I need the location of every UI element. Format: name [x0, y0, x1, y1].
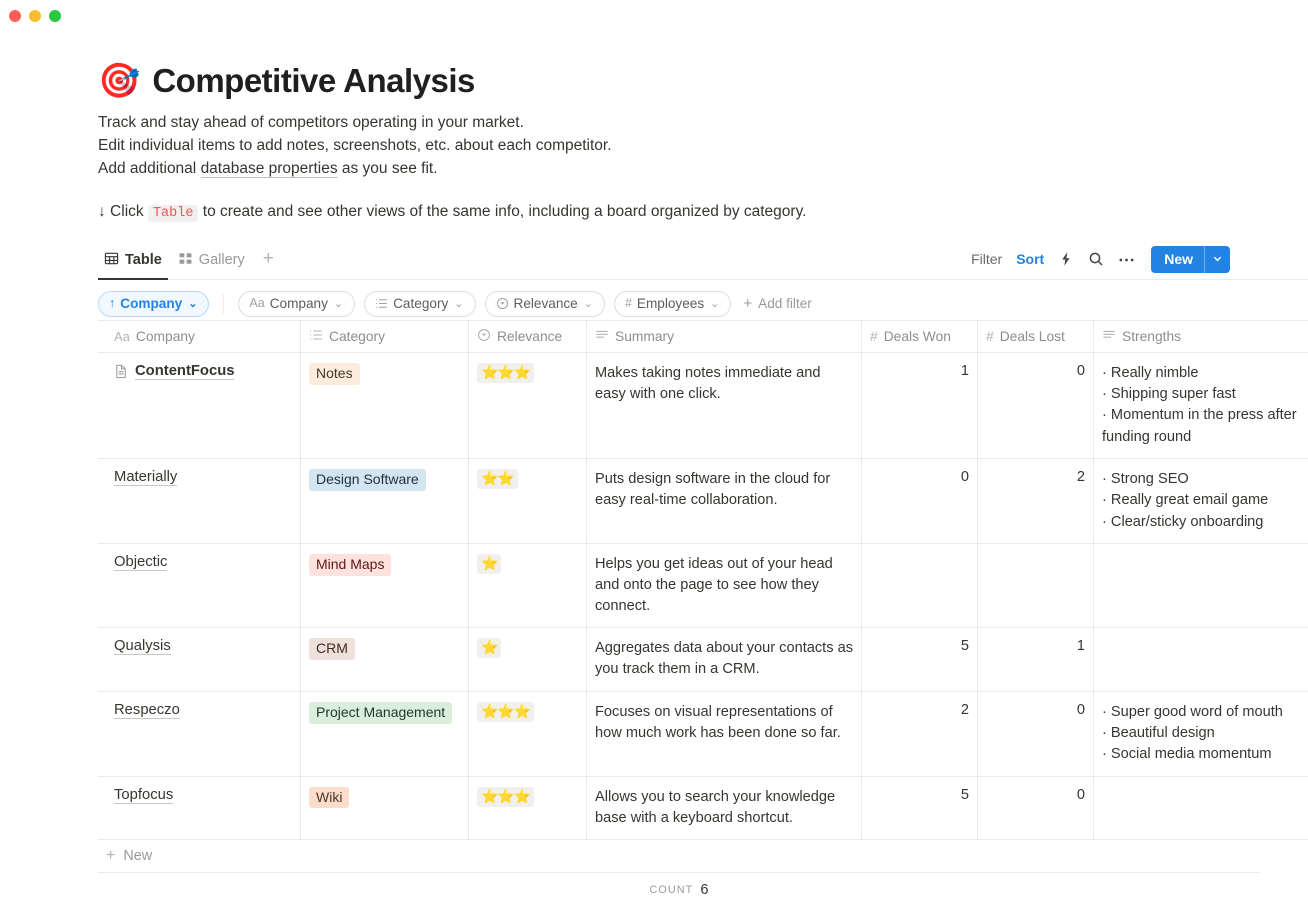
company-name[interactable]: Objectic: [114, 554, 167, 571]
property-pill-category-label: Category: [393, 296, 448, 311]
description-suffix: as you see fit.: [338, 160, 438, 177]
company-link-wrapper: Topfocus: [106, 787, 292, 804]
cell-summary[interactable]: Allows you to search your knowledge base…: [587, 777, 862, 840]
cell-strengths[interactable]: · Really nimble· Shipping super fast· Mo…: [1094, 353, 1308, 459]
gallery-icon: [178, 251, 193, 270]
sort-button[interactable]: Sort: [1016, 251, 1044, 267]
view-toolbar: Filter Sort New: [971, 246, 1230, 273]
cell-company[interactable]: Topfocus: [98, 777, 301, 840]
company-link-wrapper: Respeczo: [106, 702, 292, 719]
chevron-down-icon: ⌄: [710, 297, 719, 310]
cell-company[interactable]: Qualysis: [98, 628, 301, 691]
page-title[interactable]: Competitive Analysis: [152, 62, 475, 100]
strengths-list: · Really nimble· Shipping super fast· Mo…: [1102, 363, 1300, 448]
deals-lost-value: 0: [986, 787, 1085, 803]
column-header-deals-won[interactable]: # Deals Won: [862, 320, 978, 353]
table-row[interactable]: ObjecticMind Maps⭐Helps you get ideas ou…: [98, 544, 1308, 628]
summary-text: Allows you to search your knowledge base…: [595, 787, 853, 829]
table-row[interactable]: MateriallyDesign Software⭐⭐Puts design s…: [98, 459, 1308, 544]
cell-summary[interactable]: Makes taking notes immediate and easy wi…: [587, 353, 862, 459]
cell-summary[interactable]: Helps you get ideas out of your head and…: [587, 544, 862, 628]
company-name[interactable]: Qualysis: [114, 638, 171, 655]
number-icon: #: [870, 329, 878, 344]
filter-button[interactable]: Filter: [971, 251, 1002, 267]
pill-divider: [223, 294, 224, 314]
company-name[interactable]: Topfocus: [114, 787, 173, 804]
search-icon[interactable]: [1088, 251, 1104, 267]
deals-lost-value: 2: [986, 469, 1085, 485]
cell-deals-lost[interactable]: [978, 544, 1094, 628]
add-view-button[interactable]: +: [255, 249, 282, 276]
description-line-3: Add additional database properties as yo…: [98, 158, 1308, 181]
strength-item: · Social media momentum: [1102, 744, 1300, 765]
deals-lost-value: 0: [986, 363, 1085, 379]
count-value: 6: [700, 882, 708, 898]
minimize-button[interactable]: [29, 10, 41, 22]
chevron-down-icon: ⌄: [334, 297, 343, 310]
star-rating: ⭐: [477, 638, 501, 658]
number-icon: #: [625, 296, 632, 310]
database-table: Aa Company Category Relevance: [98, 320, 1308, 840]
column-header-summary[interactable]: Summary: [587, 320, 862, 353]
property-pill-company[interactable]: Aa Company ⌄: [238, 291, 355, 317]
select-icon: [309, 328, 323, 345]
strength-item: · Momentum in the press after funding ro…: [1102, 405, 1300, 448]
company-name[interactable]: Materially: [114, 469, 177, 486]
hint-prefix: ↓ Click: [98, 203, 148, 220]
strength-item: · Really great email game: [1102, 490, 1300, 511]
column-header-company[interactable]: Aa Company: [98, 320, 301, 353]
table-footer-count[interactable]: Count 6: [98, 873, 1260, 907]
cell-company[interactable]: Materially: [98, 459, 301, 544]
cell-strengths[interactable]: [1094, 628, 1308, 691]
new-button[interactable]: New: [1151, 246, 1230, 273]
cell-summary[interactable]: Puts design software in the cloud for ea…: [587, 459, 862, 544]
chevron-down-icon: ⌄: [454, 297, 463, 310]
tab-gallery-label: Gallery: [199, 252, 245, 268]
column-header-deals-lost[interactable]: # Deals Lost: [978, 320, 1094, 353]
property-pill-relevance[interactable]: Relevance ⌄: [485, 291, 605, 317]
new-row-button[interactable]: + New: [98, 840, 1260, 873]
category-tag: CRM: [309, 638, 355, 660]
cell-relevance[interactable]: ⭐⭐⭐: [469, 777, 587, 840]
cell-category[interactable]: Project Management: [301, 692, 469, 777]
cell-category[interactable]: Wiki: [301, 777, 469, 840]
column-header-strengths[interactable]: Strengths: [1094, 320, 1308, 353]
company-link-wrapper: Objectic: [106, 554, 292, 571]
cell-deals-lost[interactable]: 0: [978, 777, 1094, 840]
status-icon: [496, 297, 509, 310]
window-titlebar: [0, 0, 1308, 30]
cell-category[interactable]: Mind Maps: [301, 544, 469, 628]
new-row-label: New: [123, 848, 152, 864]
description-line-1: Track and stay ahead of competitors oper…: [98, 112, 1308, 135]
tab-gallery[interactable]: Gallery: [172, 247, 251, 279]
category-tag: Notes: [309, 363, 360, 385]
cell-relevance[interactable]: ⭐⭐⭐: [469, 692, 587, 777]
text-lines-icon: [1102, 328, 1116, 345]
cell-strengths[interactable]: · Strong SEO· Really great email game· C…: [1094, 459, 1308, 544]
number-icon: #: [986, 329, 994, 344]
description-prefix: Add additional: [98, 160, 201, 177]
status-icon: [477, 328, 491, 345]
cell-category[interactable]: CRM: [301, 628, 469, 691]
cell-relevance[interactable]: ⭐⭐: [469, 459, 587, 544]
strength-item: · Clear/sticky onboarding: [1102, 512, 1300, 533]
column-header-category[interactable]: Category: [301, 320, 469, 353]
database-properties-link[interactable]: database properties: [201, 160, 338, 178]
target-emoji-icon[interactable]: 🎯: [98, 64, 140, 98]
deals-won-value: 5: [870, 638, 969, 654]
cell-relevance[interactable]: ⭐: [469, 544, 587, 628]
filter-pill-row: ↑ Company ⌄ Aa Company ⌄ Category ⌄ Rele…: [98, 280, 1308, 320]
strength-item: · Shipping super fast: [1102, 384, 1300, 405]
hint-code-table: Table: [148, 205, 199, 222]
strength-item: · Strong SEO: [1102, 469, 1300, 490]
column-header-company-label: Company: [136, 329, 195, 344]
column-header-deals-won-label: Deals Won: [884, 329, 951, 344]
cell-deals-won[interactable]: [862, 544, 978, 628]
close-button[interactable]: [9, 10, 21, 22]
count-label: Count: [649, 884, 693, 896]
cell-deals-lost[interactable]: 0: [978, 353, 1094, 459]
add-filter-label: Add filter: [758, 296, 812, 311]
plus-icon: +: [106, 848, 115, 864]
cell-company[interactable]: Respeczo: [98, 692, 301, 777]
category-tag: Wiki: [309, 787, 349, 809]
strengths-list: · Strong SEO· Really great email game· C…: [1102, 469, 1300, 533]
table-row[interactable]: QualysisCRM⭐Aggregates data about your c…: [98, 628, 1308, 691]
star-rating: ⭐⭐⭐: [477, 363, 534, 383]
table-row[interactable]: RespeczoProject Management⭐⭐⭐Focuses on …: [98, 692, 1308, 777]
page-header: 🎯 Competitive Analysis: [98, 62, 1308, 100]
company-link-wrapper: Qualysis: [106, 638, 292, 655]
cell-deals-won[interactable]: 1: [862, 353, 978, 459]
deals-lost-value: 1: [986, 638, 1085, 654]
deals-won-value: 0: [870, 469, 969, 485]
deals-won-value: 5: [870, 787, 969, 803]
arrow-up-icon: ↑: [109, 296, 115, 310]
strength-item: · Beautiful design: [1102, 723, 1300, 744]
cell-summary[interactable]: Focuses on visual representations of how…: [587, 692, 862, 777]
category-tag: Project Management: [309, 702, 452, 724]
summary-text: Puts design software in the cloud for ea…: [595, 469, 853, 511]
category-tag: Design Software: [309, 469, 426, 491]
text-icon: Aa: [114, 329, 130, 344]
table-row[interactable]: TopfocusWiki⭐⭐⭐Allows you to search your…: [98, 777, 1308, 840]
cell-summary[interactable]: Aggregates data about your contacts as y…: [587, 628, 862, 691]
deals-lost-value: 0: [986, 702, 1085, 718]
summary-text: Makes taking notes immediate and easy wi…: [595, 363, 853, 405]
maximize-button[interactable]: [49, 10, 61, 22]
sort-pill-label: Company: [120, 296, 182, 311]
page-content: 🎯 Competitive Analysis Track and stay ah…: [0, 62, 1308, 907]
cell-deals-won[interactable]: 5: [862, 628, 978, 691]
property-pill-category[interactable]: Category ⌄: [364, 291, 475, 317]
company-link-wrapper: ContentFocus: [106, 363, 292, 384]
plus-icon: +: [743, 296, 752, 311]
column-header-category-label: Category: [329, 329, 385, 344]
column-header-strengths-label: Strengths: [1122, 329, 1181, 344]
ellipsis-icon[interactable]: [1118, 251, 1135, 267]
window-controls: [9, 10, 61, 22]
lightning-icon[interactable]: [1058, 251, 1074, 267]
text-lines-icon: [595, 328, 609, 345]
tab-table[interactable]: Table: [98, 247, 168, 279]
table-icon: [104, 251, 119, 270]
property-pill-company-label: Company: [270, 296, 328, 311]
table-row[interactable]: ContentFocusNotes⭐⭐⭐Makes taking notes i…: [98, 353, 1308, 459]
column-header-relevance-label: Relevance: [497, 329, 562, 344]
select-icon: [375, 297, 388, 310]
deals-won-value: 1: [870, 363, 969, 379]
page-hint: ↓ Click Table to create and see other vi…: [98, 201, 1308, 224]
company-name[interactable]: ContentFocus: [135, 363, 234, 380]
cell-category[interactable]: Design Software: [301, 459, 469, 544]
summary-text: Helps you get ideas out of your head and…: [595, 554, 853, 617]
cell-deals-won[interactable]: 2: [862, 692, 978, 777]
column-header-summary-label: Summary: [615, 329, 674, 344]
cell-company[interactable]: ContentFocus: [98, 353, 301, 459]
cell-strengths[interactable]: [1094, 544, 1308, 628]
column-header-relevance[interactable]: Relevance: [469, 320, 587, 353]
company-link-wrapper: Materially: [106, 469, 292, 486]
table-body: ContentFocusNotes⭐⭐⭐Makes taking notes i…: [98, 353, 1308, 840]
column-header-deals-lost-label: Deals Lost: [1000, 329, 1065, 344]
page-icon: [114, 364, 128, 384]
star-rating: ⭐: [477, 554, 501, 574]
chevron-down-icon[interactable]: [1205, 246, 1230, 273]
cell-deals-lost[interactable]: 2: [978, 459, 1094, 544]
strength-item: · Really nimble: [1102, 363, 1300, 384]
new-button-label: New: [1151, 246, 1204, 273]
strength-item: · Super good word of mouth: [1102, 702, 1300, 723]
chevron-down-icon: ⌄: [584, 297, 593, 310]
table-header: Aa Company Category Relevance: [98, 320, 1308, 353]
star-rating: ⭐⭐⭐: [477, 702, 534, 722]
cell-relevance[interactable]: ⭐⭐⭐: [469, 353, 587, 459]
summary-text: Aggregates data about your contacts as y…: [595, 638, 853, 680]
cell-strengths[interactable]: · Super good word of mouth· Beautiful de…: [1094, 692, 1308, 777]
cell-strengths[interactable]: [1094, 777, 1308, 840]
category-tag: Mind Maps: [309, 554, 391, 576]
company-name[interactable]: Respeczo: [114, 702, 180, 719]
summary-text: Focuses on visual representations of how…: [595, 702, 853, 744]
cell-deals-won[interactable]: 0: [862, 459, 978, 544]
cell-relevance[interactable]: ⭐: [469, 628, 587, 691]
property-pill-employees[interactable]: # Employees ⌄: [614, 291, 731, 317]
page-description: Track and stay ahead of competitors oper…: [98, 112, 1308, 181]
sort-pill-company[interactable]: ↑ Company ⌄: [98, 291, 209, 317]
cell-deals-won[interactable]: 5: [862, 777, 978, 840]
cell-deals-lost[interactable]: 1: [978, 628, 1094, 691]
tab-table-label: Table: [125, 252, 162, 268]
deals-won-value: 2: [870, 702, 969, 718]
star-rating: ⭐⭐: [477, 469, 518, 489]
table-header-row: Aa Company Category Relevance: [98, 320, 1308, 353]
view-tab-bar: Table Gallery + Filter Sort: [98, 242, 1308, 280]
property-pill-relevance-label: Relevance: [514, 296, 578, 311]
cell-company[interactable]: Objectic: [98, 544, 301, 628]
property-pill-employees-label: Employees: [637, 296, 704, 311]
star-rating: ⭐⭐⭐: [477, 787, 534, 807]
cell-deals-lost[interactable]: 0: [978, 692, 1094, 777]
text-icon: Aa: [249, 296, 264, 310]
cell-category[interactable]: Notes: [301, 353, 469, 459]
strengths-list: · Super good word of mouth· Beautiful de…: [1102, 702, 1300, 766]
view-tabs: Table Gallery +: [98, 247, 282, 279]
add-filter-button[interactable]: + Add filter: [743, 296, 811, 311]
hint-suffix: to create and see other views of the sam…: [198, 203, 806, 220]
description-line-2: Edit individual items to add notes, scre…: [98, 135, 1308, 158]
chevron-down-icon: ⌄: [188, 297, 197, 310]
